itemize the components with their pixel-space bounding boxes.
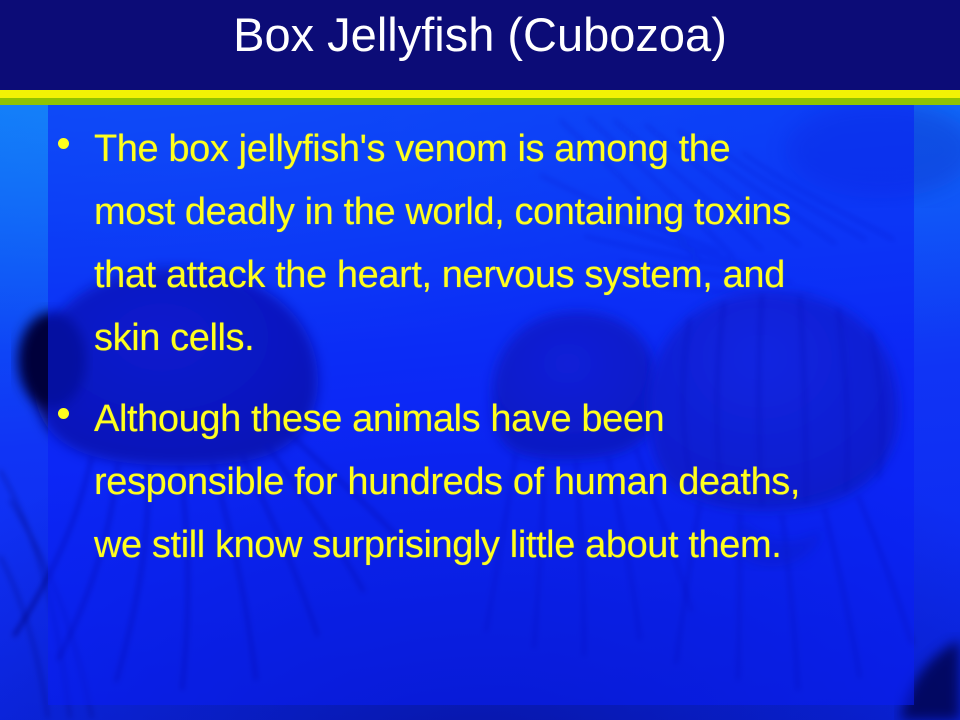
bullet-dot-icon [58, 138, 69, 149]
list-item: Although these animals have been respons… [48, 388, 928, 577]
dark-corner-bottom-right [900, 640, 960, 720]
bullet-line: that attack the heart, nervous system, a… [94, 244, 928, 307]
bullet-line: skin cells. [94, 307, 928, 370]
bullet-line: Although these animals have been [94, 388, 928, 451]
list-item: The box jellyfish's venom is among the m… [48, 118, 928, 370]
divider-rule-yellow [0, 90, 960, 98]
bullet-dot-icon [58, 408, 69, 419]
divider-rule-olive [0, 98, 960, 105]
slide-title-band: Box Jellyfish (Cubozoa) [0, 0, 960, 90]
bullet-line: most deadly in the world, containing tox… [94, 181, 928, 244]
bullet-line: responsible for hundreds of human deaths… [94, 451, 928, 514]
page-title: Box Jellyfish (Cubozoa) [0, 8, 960, 62]
presentation-slide: Box Jellyfish (Cubozoa) The box jellyfis… [0, 0, 960, 720]
bullet-line: The box jellyfish's venom is among the [94, 118, 928, 181]
slide-body: The box jellyfish's venom is among the m… [48, 118, 928, 595]
bullet-line: we still know surprisingly little about … [94, 514, 928, 577]
